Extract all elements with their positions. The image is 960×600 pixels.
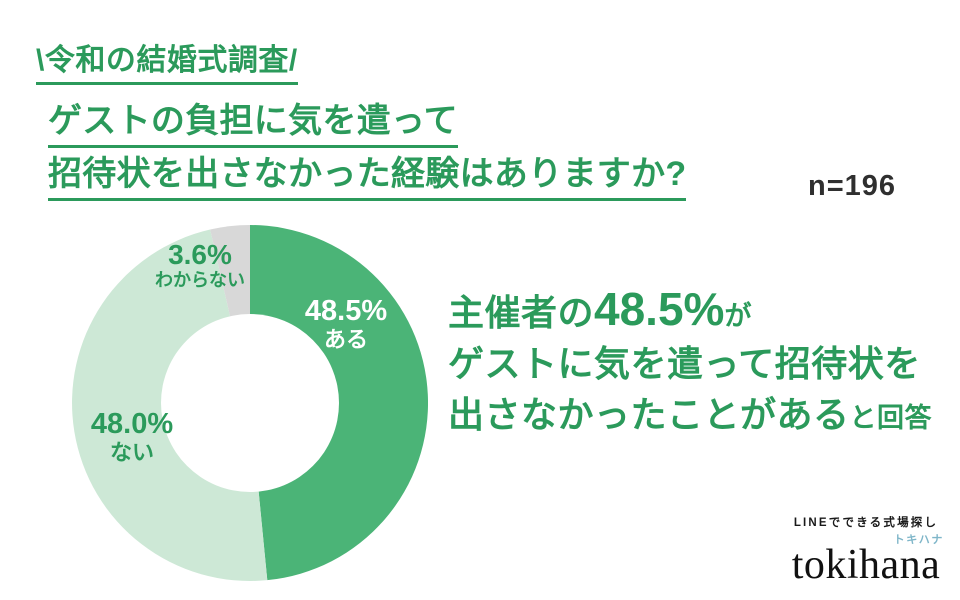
conclusion-text: 主催者の48.5%が ゲストに気を遣って招待状を 出さなかったことがあると回答	[448, 286, 948, 433]
conclusion-line-3: 出さなかったことがあると回答	[448, 397, 948, 433]
headline-line-2: 招待状を出さなかった経験はありますか?	[48, 157, 686, 201]
conclusion-line-1: 主催者の48.5%が	[448, 286, 948, 332]
sample-size-label: n=196	[808, 170, 896, 203]
donut-chart-svg	[72, 225, 428, 581]
donut-chart: 48.5% ある 48.0% ない 3.6% わからない	[72, 225, 428, 581]
infographic-page: \令和の結婚式調査/ ゲストの負担に気を遣って 招待状を出さなかった経験はありま…	[0, 0, 960, 600]
donut-hole	[161, 314, 339, 492]
logo-tagline: LINEでできる式場探し	[786, 514, 946, 530]
conclusion-prefix: 主催者の	[448, 292, 594, 333]
conclusion-particle: が	[724, 301, 752, 331]
headline-line-1: ゲストの負担に気を遣って	[48, 104, 458, 148]
logo-mark: トキハナ tokihana	[786, 534, 946, 586]
survey-kicker: \令和の結婚式調査/	[36, 44, 298, 85]
page-title: ゲストの負担に気を遣って 招待状を出さなかった経験はありますか?	[48, 104, 686, 210]
conclusion-line-3-main: 出さなかったことがある	[448, 394, 850, 435]
logo-furigana: トキハナ	[894, 531, 944, 547]
brand-logo: LINEでできる式場探し トキハナ tokihana	[786, 514, 946, 586]
conclusion-line-3-suffix: と回答	[850, 403, 933, 433]
conclusion-figure: 48.5%	[594, 283, 724, 335]
conclusion-line-2: ゲストに気を遣って招待状を	[448, 346, 948, 382]
